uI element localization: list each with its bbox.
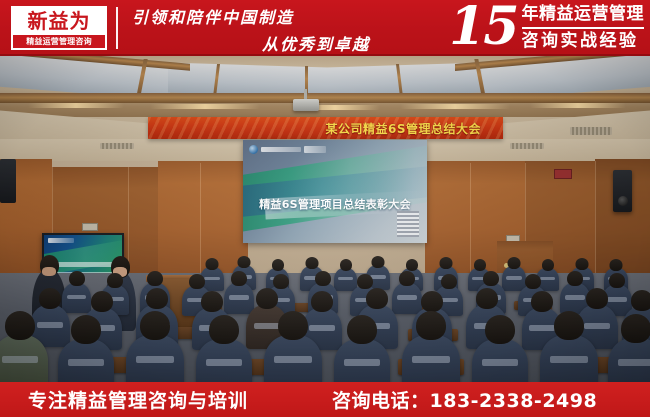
screen-logo-mark (249, 145, 258, 154)
stage-banner-text: 某公司精益6S管理总结大会 (326, 120, 504, 137)
screen-company-logo (249, 145, 326, 154)
attendee (62, 283, 91, 313)
conference-photo: 某公司精益6S管理总结大会 精益6S管理项目总结表彰大会 (0, 55, 650, 382)
exit-sign (554, 169, 572, 179)
footer-phone-label[interactable]: 咨询电话：183-2338-2498 (332, 386, 597, 413)
brand-name: 新益为 (13, 8, 105, 35)
ceiling-light (400, 104, 510, 109)
air-vent (100, 143, 134, 149)
brand-logo[interactable]: 新益为 精益运营管理咨询 (11, 6, 107, 50)
attendee-front (334, 339, 390, 382)
attendee-front (608, 338, 650, 382)
header-bar: 新益为 精益运营管理咨询 引领和陪伴中国制造 从优秀到卓越 15 年精益运营管理… (0, 0, 650, 56)
stage-banner: 某公司精益6S管理总结大会 (148, 117, 503, 139)
attendee-front (472, 339, 528, 382)
attendee-front (264, 335, 322, 382)
attendee (502, 266, 526, 291)
screen-title-text: 精益6S管理项目总结表彰大会 (243, 196, 427, 212)
wood-panel (158, 161, 248, 283)
wall-speaker-left (0, 159, 16, 203)
presenter-left-face (42, 267, 56, 276)
promo-poster: 新益为 精益运营管理咨询 引领和陪伴中国制造 从优秀到卓越 15 年精益运营管理… (0, 0, 650, 417)
years-number: 15 (449, 1, 517, 53)
attendee (334, 268, 357, 291)
years-text: 年精益运营管理 咨询实战经验 (522, 4, 645, 53)
attendee-front (402, 335, 460, 382)
footer-slogan: 专注精益管理咨询与培训 (28, 386, 248, 413)
screen-logo-text-secondary (304, 146, 326, 153)
panel-seam (200, 163, 201, 283)
panel-seam (470, 163, 471, 285)
panel-seam (595, 161, 596, 287)
attendee-front (126, 335, 184, 382)
attendee (392, 283, 422, 314)
wall-switch-plate[interactable] (82, 223, 98, 231)
air-vent (510, 143, 544, 149)
ceiling-light (28, 103, 124, 108)
experience-badge: 15 年精益运营管理 咨询实战经验 (449, 2, 644, 54)
slogan-line-2: 从优秀到卓越 (128, 31, 378, 55)
slogan-line-1: 引领和陪伴中国制造 (128, 4, 378, 28)
footer-bar: 专注精益管理咨询与培训 咨询电话：183-2338-2498 (0, 382, 650, 417)
monitor-text-line (58, 262, 114, 267)
qr-code (397, 211, 419, 237)
brand-tagline: 精益运营管理咨询 (13, 35, 105, 48)
header-slogan: 引领和陪伴中国制造 从优秀到卓越 (128, 6, 378, 52)
years-line-2: 咨询实战经验 (522, 29, 645, 52)
ceiling-trim-beam (0, 93, 650, 103)
projector (293, 99, 319, 111)
header-divider (116, 7, 118, 49)
attendee-front (0, 335, 48, 382)
years-line-1: 年精益运营管理 (522, 4, 645, 27)
attendee-front (540, 335, 598, 382)
monitor-logo (48, 238, 74, 243)
attendee (224, 283, 254, 314)
ceiling-light (150, 104, 260, 109)
air-vent (570, 127, 612, 135)
attendee-front (58, 339, 114, 382)
attendee-front (196, 339, 252, 382)
ceiling-light (530, 103, 626, 108)
wall-speaker-right (613, 170, 632, 212)
projection-screen: 精益6S管理项目总结表彰大会 (243, 140, 427, 243)
screen-logo-text (261, 147, 301, 152)
